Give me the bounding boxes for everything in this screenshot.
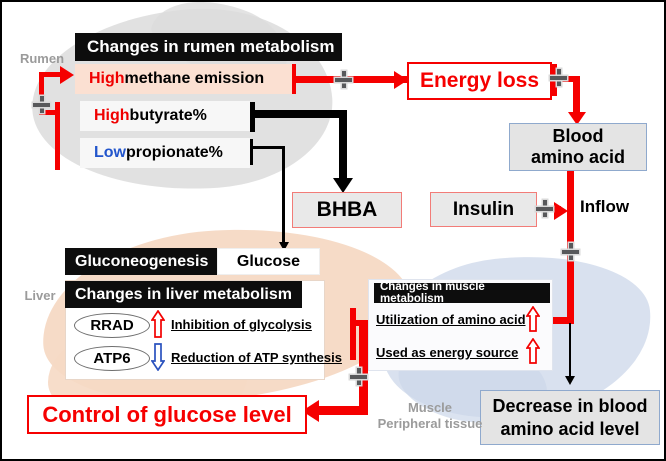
liver-gene-pill-rrad: RRAD (74, 313, 150, 338)
muscle-note-energy-source: Used as energy source (376, 345, 518, 360)
node-blood-amino-acid-line1: Blood (553, 126, 604, 147)
liver-out-cap (350, 308, 356, 360)
down-arrow-blue-outline-icon-atp6 (151, 343, 165, 371)
rumen-row-propionate-text: propionate% (126, 144, 223, 162)
liver-gene-label-atp6: ATP6 (93, 350, 130, 367)
rumen-row-butyrate-emphasis: High (94, 107, 130, 125)
propionate-horizontal (250, 146, 285, 149)
rumen-row-butyrate: High butyrate% (80, 101, 250, 131)
rumen-row-propionate-emphasis: Low (94, 144, 126, 162)
arrowhead-energy-loss (394, 71, 408, 89)
liver-out-horizontal (318, 406, 368, 415)
liver-note-rrad: Inhibition of glycolysis (171, 317, 312, 332)
plus-marker-liver-to-glucose-control (350, 368, 367, 385)
node-glucose-label: Glucose (237, 253, 300, 271)
plus-marker-inflow-to-muscle (562, 243, 579, 260)
butyrate-to-bhba-horizontal (250, 110, 347, 118)
rumen-row-methane-emphasis: High (89, 70, 125, 88)
propionate-to-glucose-vertical (282, 146, 285, 245)
node-gluconeogenesis: Gluconeogenesis (65, 248, 217, 275)
arrowhead-decrease-blood-amino-acid (565, 376, 575, 385)
rumen-row-butyrate-text: butyrate% (130, 107, 207, 125)
propionate-out-cap (250, 139, 253, 165)
liver-out-vertical (359, 320, 368, 413)
up-arrow-red-outline-icon-energy-source (526, 338, 540, 364)
node-insulin: Insulin (430, 192, 537, 227)
arrowhead-bhba (333, 178, 353, 193)
node-bhba: BHBA (292, 192, 402, 228)
label-inflow: Inflow (580, 197, 629, 217)
node-blood-amino-acid: Blood amino acid (509, 123, 647, 171)
liver-note-atp6: Reduction of ATP synthesis (171, 350, 342, 365)
rumen-panel-header: Changes in rumen metabolism (75, 33, 342, 61)
up-arrow-red-outline-icon-rrad (151, 310, 165, 338)
organ-label-rumen: Rumen (12, 51, 72, 66)
node-decrease-blood-amino-acid: Decrease in blood amino acid level (480, 390, 660, 445)
muscle-to-decrease-line (569, 323, 571, 379)
node-energy-loss-label: Energy loss (420, 69, 539, 93)
up-arrow-red-outline-icon-utilization (526, 306, 540, 332)
organ-label-muscle-line2: Peripheral tissue (360, 416, 500, 431)
organ-label-liver: Liver (14, 288, 66, 303)
plus-marker-butyrate-to-methane (33, 96, 50, 113)
node-control-of-glucose-label: Control of glucose level (42, 402, 291, 428)
plus-marker-insulin-to-inflow (536, 200, 553, 217)
node-blood-amino-acid-line2: amino acid (531, 147, 625, 168)
node-control-of-glucose-level: Control of glucose level (27, 395, 307, 434)
organ-label-muscle-line1: Muscle (370, 400, 490, 415)
muscle-panel-header: Changes in muscle metabolism (374, 283, 550, 303)
rumen-row-propionate: Low propionate% (80, 138, 250, 168)
node-decrease-line2: amino acid level (500, 418, 639, 441)
arrowhead-to-methane-row (60, 66, 74, 84)
node-gluconeogenesis-label: Gluconeogenesis (75, 253, 208, 271)
energy-loss-down-line (573, 76, 580, 114)
plus-marker-methane-to-energy-loss (335, 71, 352, 88)
liver-panel-header: Changes in liver metabolism (65, 281, 302, 308)
node-energy-loss: Energy loss (407, 62, 552, 100)
node-bhba-label: BHBA (317, 198, 378, 222)
liver-gene-pill-atp6: ATP6 (74, 346, 150, 371)
liver-gene-label-rrad: RRAD (90, 317, 133, 334)
rumen-row-methane: High methane emission (75, 64, 292, 94)
rumen-row-methane-text: methane emission (125, 70, 265, 88)
node-insulin-label: Insulin (453, 199, 514, 221)
node-decrease-line1: Decrease in blood (492, 395, 647, 418)
arrowhead-inflow (554, 202, 568, 220)
plus-marker-energy-loss-to-blood-amino-acid (550, 69, 567, 86)
node-glucose: Glucose (217, 248, 320, 275)
muscle-note-utilization: Utilization of amino acid (376, 312, 526, 327)
butyrate-to-bhba-vertical (339, 110, 347, 180)
diagram-canvas: Rumen Liver Muscle Peripheral tissue Cha… (0, 0, 666, 461)
